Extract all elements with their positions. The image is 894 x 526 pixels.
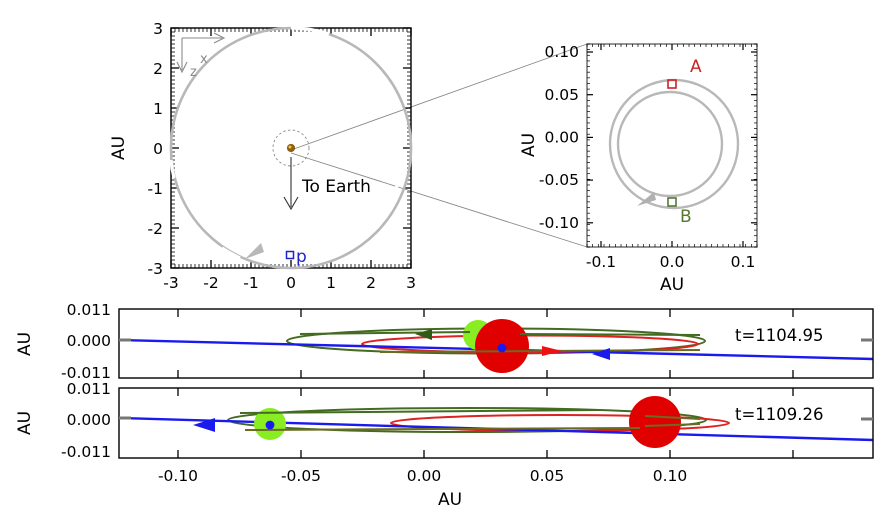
- panel-d-xtick-1: -0.05: [281, 467, 321, 485]
- panel-d-xtick-3: 0.05: [530, 467, 565, 485]
- panel-a-wide-orbit: -3 -2 -1 0 1 2 3 3 2 1 0 -1 -2 -3 AU x z…: [109, 20, 416, 292]
- panel-b-ylabel: AU: [519, 133, 539, 157]
- panel-b-ytick-1: 0.05: [544, 86, 579, 104]
- panel-b-major-ticks: [587, 44, 757, 247]
- panel-b-xtick-1: 0.0: [660, 253, 685, 271]
- panel-c-arrow-red-right: [542, 346, 562, 356]
- panel-d-blue-dot: [266, 421, 275, 430]
- panel-d-timeslice: 0.011 0.000 -0.011 -0.10 -0.05 0.00 0.05…: [15, 380, 873, 510]
- figure-canvas: -3 -2 -1 0 1 2 3 3 2 1 0 -1 -2 -3 AU x z…: [0, 0, 894, 526]
- panel-d-xtick-0: -0.10: [158, 467, 198, 485]
- marker-b-label: B: [680, 207, 692, 227]
- panel-a-ytick-6: -3: [148, 260, 163, 278]
- axis-indicator-z-label: z: [190, 65, 197, 80]
- panel-a-ytick-5: -2: [148, 220, 163, 238]
- panel-a-xtick-1: -2: [203, 274, 218, 292]
- panel-a-ylabel: AU: [109, 136, 129, 160]
- panel-d-red-body: [629, 396, 681, 448]
- panel-c-timeslice: 0.011 0.000 -0.011 AU t=1104.95: [15, 301, 873, 382]
- panel-c-ylabel: AU: [15, 332, 35, 356]
- panel-a-ytick-2: 1: [153, 100, 163, 118]
- panel-c-ytick-1: 0.000: [67, 332, 111, 350]
- panel-d-xtick-4: 0.10: [653, 467, 688, 485]
- panel-d-ytick-2: -0.011: [61, 443, 111, 461]
- marker-p-square: [287, 252, 294, 259]
- panel-c-blue-dot: [498, 344, 507, 353]
- panel-a-xtick-0: -3: [163, 274, 178, 292]
- panel-a-xtick-3: 0: [286, 274, 296, 292]
- to-earth-arrow: [284, 157, 298, 209]
- panel-b-ytick-2: 0.00: [544, 129, 579, 147]
- panel-a-ytick-3: 0: [153, 140, 163, 158]
- panel-a-xtick-2: -1: [243, 274, 258, 292]
- panel-d-time-label: t=1109.26: [735, 405, 824, 424]
- panel-b-xlabel: AU: [660, 275, 684, 295]
- panel-b-ytick-3: -0.05: [539, 171, 579, 189]
- panel-b-ytick-4: -0.10: [539, 214, 579, 232]
- panel-a-ytick-1: 2: [153, 60, 163, 78]
- figure-svg: -3 -2 -1 0 1 2 3 3 2 1 0 -1 -2 -3 AU x z…: [0, 0, 894, 526]
- panel-c-ytick-0: 0.011: [67, 301, 111, 319]
- to-earth-label: To Earth: [301, 177, 371, 197]
- panel-b-minor-ticks: [587, 44, 757, 247]
- panel-b-frame: [587, 44, 757, 247]
- marker-p-label: p: [296, 247, 307, 267]
- panel-a-ytick-4: -1: [148, 180, 163, 198]
- panel-a-ytick-0: 3: [153, 20, 163, 38]
- panel-d-xlabel: AU: [438, 490, 462, 510]
- panel-b-xtick-0: -0.1: [586, 253, 616, 271]
- marker-a-label: A: [690, 57, 702, 77]
- marker-b-square: [668, 198, 676, 206]
- panel-c-time-label: t=1104.95: [735, 326, 824, 345]
- panel-a-xtick-6: 3: [406, 274, 416, 292]
- panel-d-xtick-2: 0.00: [407, 467, 442, 485]
- panel-b-precessing-orbit: [610, 80, 738, 208]
- panel-d-ytick-0: 0.011: [67, 380, 111, 398]
- panel-a-orbit-direction-arrow: [245, 243, 264, 259]
- axis-indicator-x-label: x: [200, 52, 208, 67]
- panel-b-xtick-2: 0.1: [731, 253, 756, 271]
- panel-a-xtick-5: 2: [366, 274, 376, 292]
- panel-d-ytick-1: 0.000: [67, 411, 111, 429]
- panel-d-ylabel: AU: [15, 411, 35, 435]
- panel-b-zoom-orbit: A B 0.10 0.05 0.00 -0.05 -0.10 -0.1 0.0 …: [519, 43, 757, 295]
- panel-a-xtick-4: 1: [326, 274, 336, 292]
- panel-b-ytick-0: 0.10: [544, 43, 579, 61]
- sun-core: [289, 146, 292, 149]
